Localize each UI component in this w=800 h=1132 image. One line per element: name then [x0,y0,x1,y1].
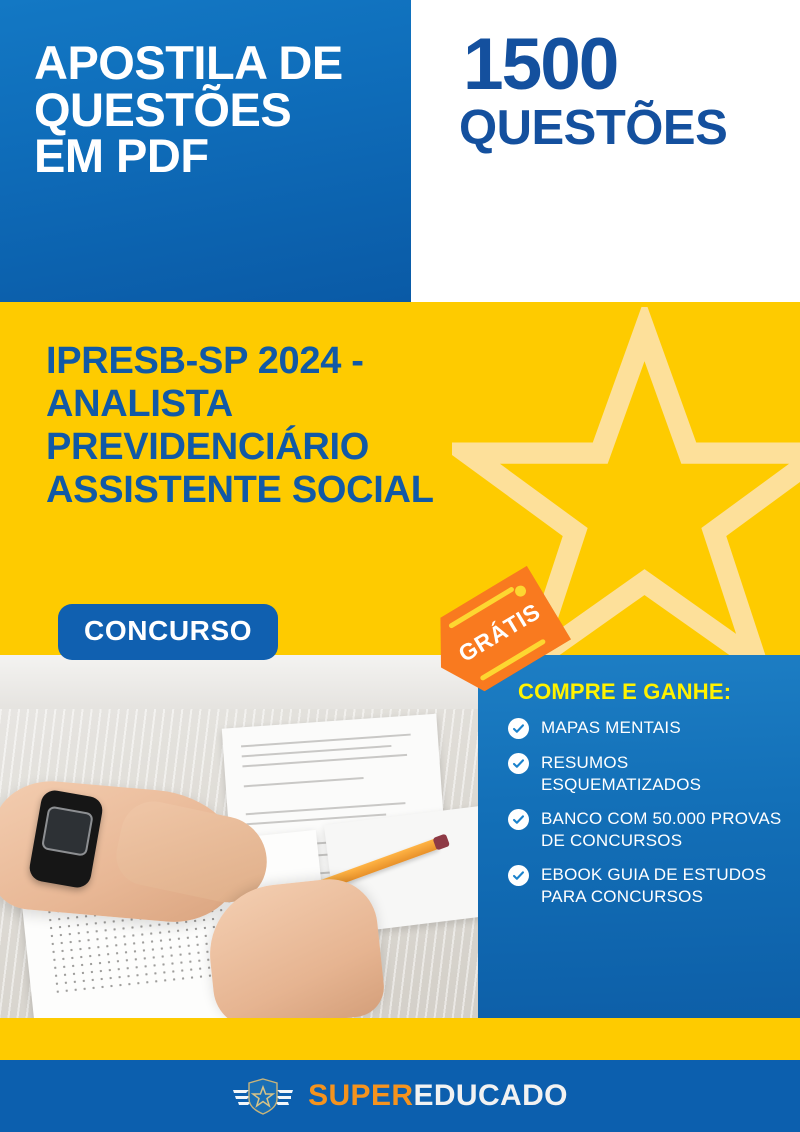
list-item-label: EBOOK GUIA DE ESTUDOS PARA CONCURSOS [541,864,786,907]
brand-logo: SUPEREDUCADO [232,1075,568,1117]
question-count: 1500 [463,28,617,101]
exam-photo [0,655,478,1018]
list-item-label: BANCO COM 50.000 PROVAS DE CONCURSOS [541,808,786,851]
headline-panel: APOSTILA DE QUESTÕES EM PDF [0,0,411,302]
brand-name-part-2: EDUCADO [413,1079,567,1112]
benefits-panel: COMPRE E GANHE: MAPAS MENTAIS RESUMOS ES… [478,655,800,1018]
list-item: BANCO COM 50.000 PROVAS DE CONCURSOS [508,808,786,851]
check-circle-icon [508,753,529,774]
photo-background-wall [0,655,478,717]
list-item: MAPAS MENTAIS [508,717,786,739]
quantity-panel: 1500 QUESTÕES PDF CONTEÚDO DE ACORDO COM… [411,0,800,302]
benefits-list: MAPAS MENTAIS RESUMOS ESQUEMATIZADOS BAN… [508,717,786,920]
promo-poster: APOSTILA DE QUESTÕES EM PDF 1500 QUESTÕE… [0,0,800,1132]
check-circle-icon [508,865,529,886]
concurso-badge: CONCURSO [58,604,278,660]
list-item: EBOOK GUIA DE ESTUDOS PARA CONCURSOS [508,864,786,907]
headline-line-1: APOSTILA DE [34,40,394,87]
list-item: RESUMOS ESQUEMATIZADOS [508,752,786,795]
headline: APOSTILA DE QUESTÕES EM PDF [34,40,394,180]
brand-name-part-1: SUPER [308,1079,413,1112]
headline-line-3: EM PDF [34,133,394,180]
course-title-line-2: ANALISTA [46,383,646,426]
headline-line-2: QUESTÕES [34,87,394,134]
footer-yellow-divider [0,1018,800,1060]
check-circle-icon [508,718,529,739]
list-item-label: MAPAS MENTAIS [541,717,681,739]
course-title-line-3: PREVIDENCIÁRIO [46,426,646,469]
brand-name: SUPEREDUCADO [308,1079,568,1113]
benefits-title: COMPRE E GANHE: [518,679,731,705]
course-title-line-1: IPRESB-SP 2024 - [46,340,646,383]
title-section: IPRESB-SP 2024 - ANALISTA PREVIDENCIÁRIO… [0,302,800,655]
winged-shield-star-logo-icon [232,1075,294,1117]
top-section: APOSTILA DE QUESTÕES EM PDF 1500 QUESTÕE… [0,0,800,302]
list-item-label: RESUMOS ESQUEMATIZADOS [541,752,786,795]
page-title: IPRESB-SP 2024 - ANALISTA PREVIDENCIÁRIO… [46,340,646,512]
footer: SUPEREDUCADO [0,1060,800,1132]
question-count-label: QUESTÕES [459,104,727,153]
photo-watch-face [41,805,94,856]
course-title-line-4: ASSISTENTE SOCIAL [46,469,646,512]
check-circle-icon [508,809,529,830]
